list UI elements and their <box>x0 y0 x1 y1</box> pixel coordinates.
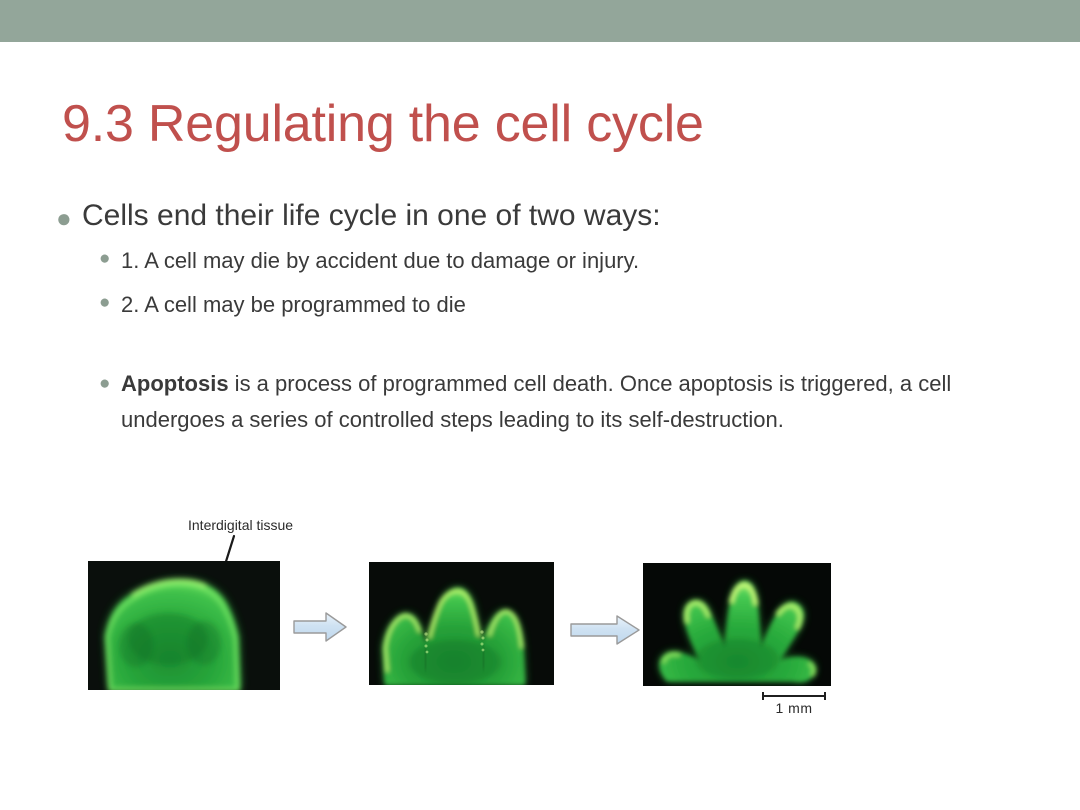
bullet-dot-icon: ● <box>99 284 121 312</box>
apoptosis-term: Apoptosis <box>121 371 229 396</box>
list-item: ● 2. A cell may be programmed to die <box>99 284 1036 326</box>
callout-leader-line <box>200 532 250 612</box>
micrograph-panel-3 <box>643 563 831 686</box>
slide-body: ● Cells end their life cycle in one of t… <box>56 196 1036 439</box>
list-item: ● 1. A cell may die by accident due to d… <box>99 240 1036 282</box>
bullet-dot-icon: ● <box>56 196 82 231</box>
slide-top-band <box>0 0 1080 42</box>
process-arrow-1-icon <box>292 610 348 644</box>
scale-bar-line <box>760 691 828 701</box>
bullet-dot-icon: ● <box>99 240 121 268</box>
apoptosis-paragraph: Apoptosis is a process of programmed cel… <box>121 366 1016 437</box>
bullet-level2-text: 1. A cell may die by accident due to dam… <box>121 240 1036 282</box>
interdigital-tissue-label: Interdigital tissue <box>188 516 293 534</box>
page-title: 9.3 Regulating the cell cycle <box>62 92 1022 156</box>
scale-bar: 1 mm <box>760 689 828 719</box>
bullet-level2-text: 2. A cell may be programmed to die <box>121 284 1036 326</box>
micrograph-panel-1-image <box>88 561 280 690</box>
micrograph-panel-2-image <box>369 562 554 685</box>
micrograph-panel-1 <box>88 561 280 690</box>
micrograph-panel-2 <box>369 562 554 685</box>
apoptosis-definition: is a process of programmed cell death. O… <box>121 371 951 432</box>
bullet-dot-icon: ● <box>99 366 121 393</box>
bullet-level1-text: Cells end their life cycle in one of two… <box>82 196 1036 236</box>
list-item: ● Cells end their life cycle in one of t… <box>56 196 1036 236</box>
micrograph-panel-3-image <box>643 563 831 686</box>
list-item-apoptosis: ● Apoptosis is a process of programmed c… <box>99 366 1036 437</box>
process-arrow-2-icon <box>569 613 641 647</box>
scale-bar-label: 1 mm <box>760 699 828 717</box>
